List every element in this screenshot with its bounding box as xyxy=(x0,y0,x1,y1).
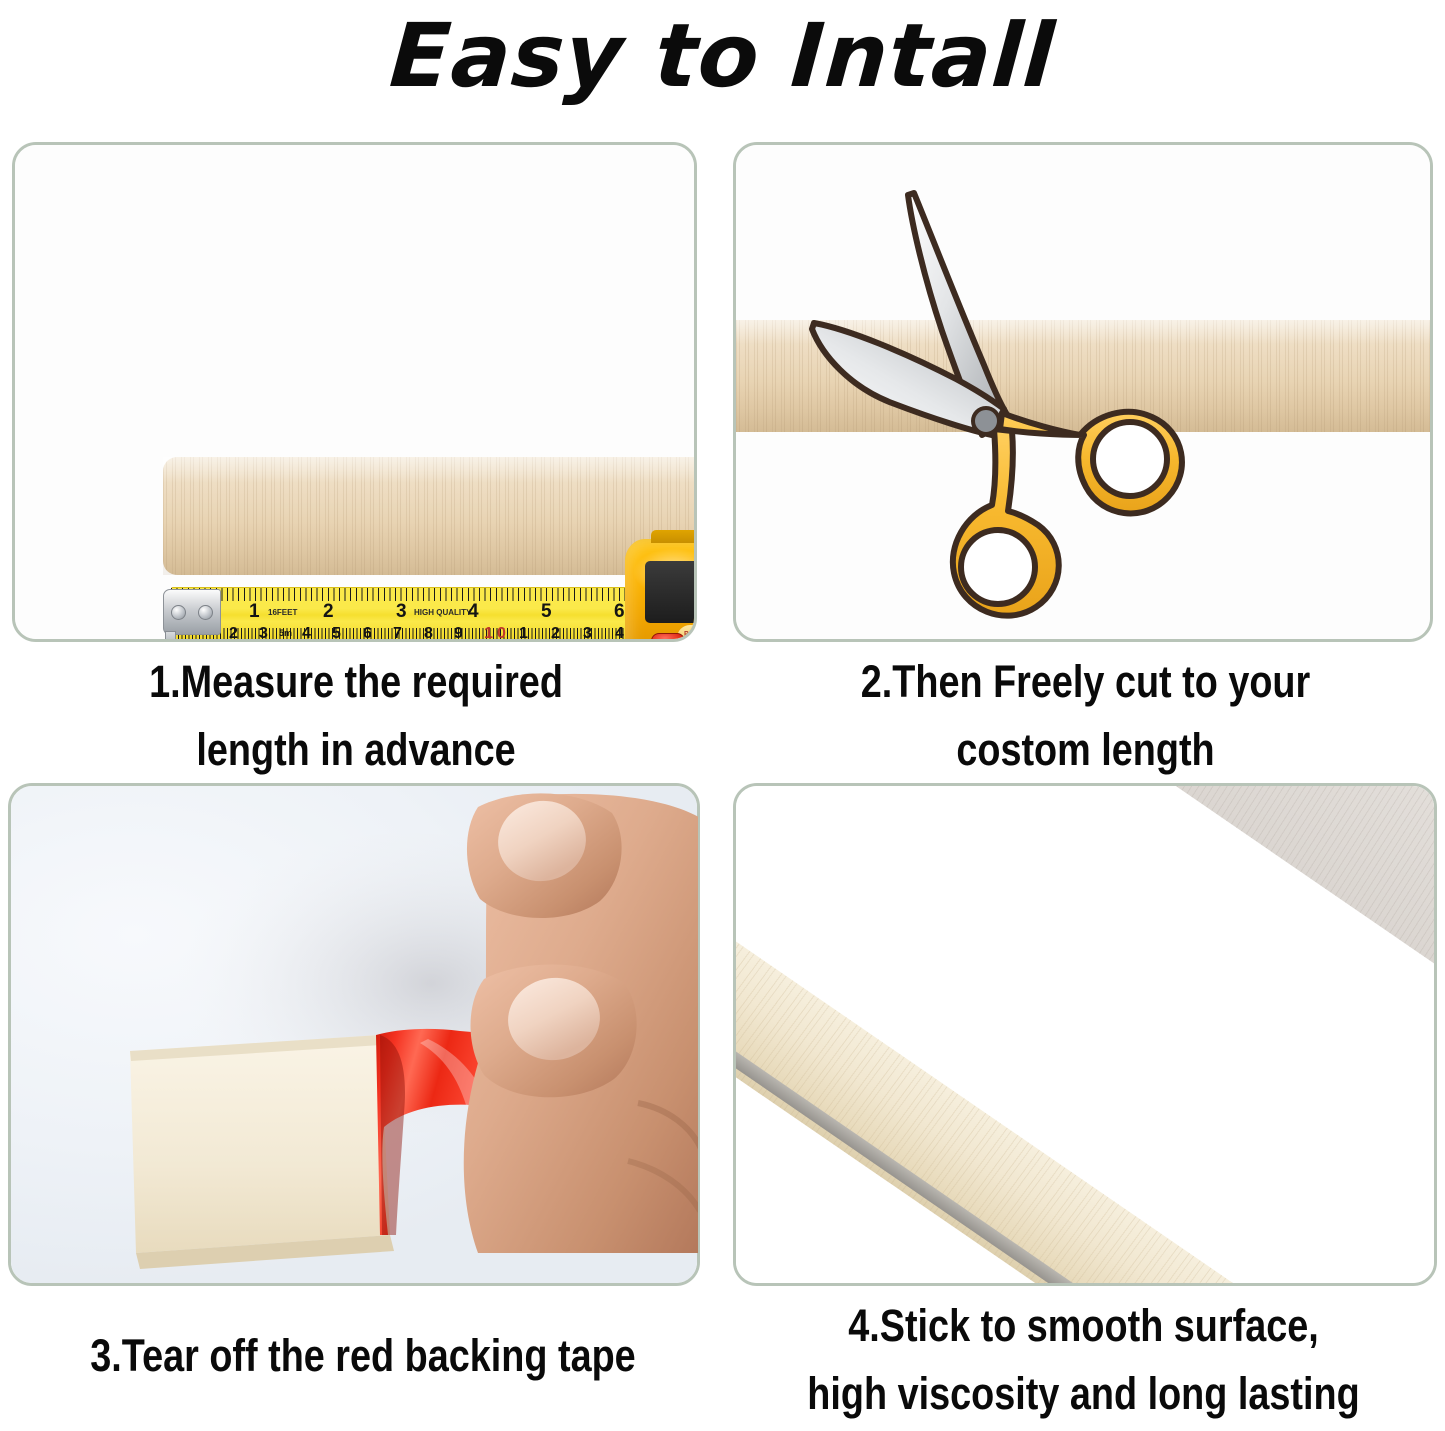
instruction-graphic: Easy to Intall 1 16FEET 2 3 HIGH QUALITY… xyxy=(0,0,1445,1431)
tape-metric-mark: 4 xyxy=(615,626,624,642)
tape-lock-lever xyxy=(645,561,697,623)
trim-strip xyxy=(163,457,697,575)
tape-metric-mark: 3 xyxy=(583,626,592,642)
tape-measure-case: PROFESSIONAL MEASURING TAPE xyxy=(625,539,697,642)
page-title: Easy to Intall xyxy=(0,4,1445,108)
tape-inch-ticks xyxy=(171,588,669,601)
step-1-image-panel: 1 16FEET 2 3 HIGH QUALITY 4 5 6 2 3 5m 4… xyxy=(12,142,697,642)
case-top-nub xyxy=(651,530,697,543)
tape-inch-row: 1 16FEET 2 3 HIGH QUALITY 4 5 6 xyxy=(171,601,669,622)
tape-metric-mark: 6 xyxy=(363,626,372,642)
tape-metric-mark: 1 xyxy=(519,626,528,642)
tape-inch-mark: 6 xyxy=(614,602,625,621)
tape-inch-mark: 3 xyxy=(396,602,407,621)
tape-metric-mark: 3 xyxy=(259,626,268,642)
tape-metric-mark: 9 xyxy=(454,626,463,642)
photo-background xyxy=(736,786,1434,1283)
tape-metric-mark: 0 xyxy=(497,626,506,642)
tape-brand-text: 16FEET xyxy=(268,608,297,617)
tape-metric-mark: 8 xyxy=(424,626,433,642)
tape-inch-mark: 2 xyxy=(323,602,334,621)
tape-case-label-line-1: PROFESSIONAL xyxy=(684,630,697,639)
scissors-ring-right xyxy=(1093,422,1167,496)
tape-case-label-line-2: MEASURING TAPE xyxy=(684,640,697,642)
step-1-caption: 1.Measure the required length in advance xyxy=(57,648,655,785)
tape-metric-mark: 1 xyxy=(484,626,493,642)
step-3-caption: 3.Tear off the red backing tape xyxy=(58,1322,668,1390)
tape-inch-mark: 1 xyxy=(249,602,260,621)
trim-strip-piece xyxy=(130,1035,390,1253)
tape-metric-mark: 2 xyxy=(229,626,238,642)
tape-metric-mark: 2 xyxy=(551,626,560,642)
step-4-caption: 4.Stick to smooth surface, high viscosit… xyxy=(780,1292,1387,1429)
hook-tab xyxy=(165,631,176,642)
red-tape-fold-shadow xyxy=(380,1035,405,1235)
tape-metric-row: 2 3 5m 4 5 6 7 8 9 1 0 1 2 3 4 xyxy=(171,624,669,642)
scissors-ring-lower xyxy=(961,530,1035,604)
step-3-scene xyxy=(8,783,700,1286)
step-4-image-panel xyxy=(733,783,1437,1286)
tape-quality-text: HIGH QUALITY xyxy=(414,608,471,617)
tape-release-button xyxy=(651,633,685,642)
hook-rivet xyxy=(171,605,186,620)
hook-rivet xyxy=(198,605,213,620)
tape-blade: 1 16FEET 2 3 HIGH QUALITY 4 5 6 2 3 5m 4… xyxy=(171,587,669,642)
tape-metric-mark: 5 xyxy=(332,626,341,642)
tape-inch-mark: 4 xyxy=(468,602,479,621)
scissors-pivot xyxy=(973,408,999,434)
tape-measure: 1 16FEET 2 3 HIGH QUALITY 4 5 6 2 3 5m 4… xyxy=(163,575,697,642)
tape-inch-mark: 5 xyxy=(541,602,552,621)
tape-hook-end xyxy=(163,589,221,635)
step-2-caption: 2.Then Freely cut to your costom length xyxy=(784,648,1388,785)
tape-metric-unit: 5m xyxy=(279,628,292,638)
tape-metric-mark: 4 xyxy=(302,626,311,642)
step-2-image-panel xyxy=(733,142,1433,642)
installed-trim-strip xyxy=(733,914,1437,1286)
scissors-icon xyxy=(796,167,1226,637)
tape-metric-mark: 7 xyxy=(393,626,402,642)
